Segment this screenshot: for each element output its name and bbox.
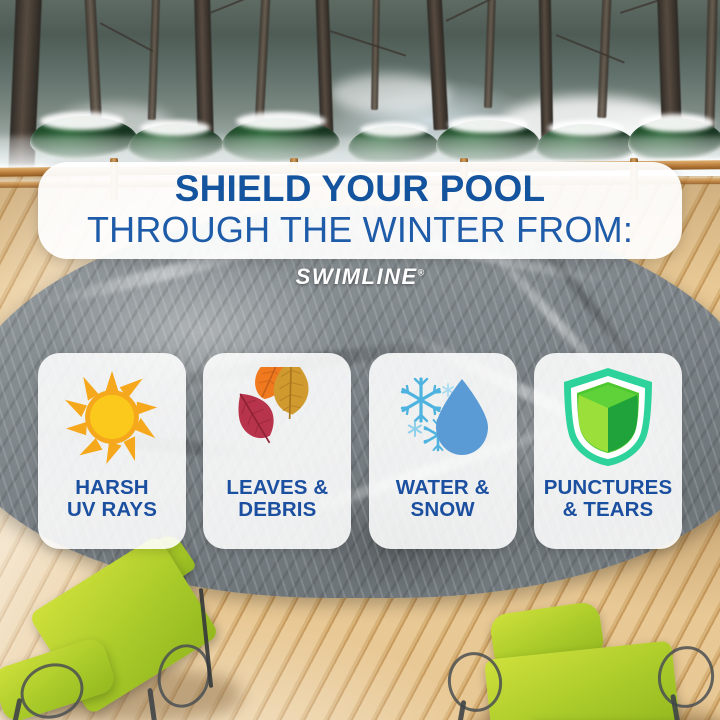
headline-line-1: SHIELD YOUR POOL xyxy=(175,170,546,208)
headline-line-2: THROUGH THE WINTER FROM: xyxy=(87,210,633,250)
swimline-logo: SWIMLINE® xyxy=(0,264,720,290)
marketing-image: SHIELD YOUR POOL THROUGH THE WINTER FROM… xyxy=(0,0,720,720)
feature-card-punctures-tears[interactable]: PUNCTURES & TEARS xyxy=(534,353,682,549)
feature-card-harsh-uv-rays[interactable]: HARSH UV RAYS xyxy=(38,353,186,549)
autumn-leaves-icon xyxy=(203,353,351,477)
feature-label: WATER & SNOW xyxy=(396,477,490,521)
snowflake-waterdrop-icon xyxy=(369,353,517,477)
feature-cards: HARSH UV RAYS xyxy=(38,353,682,549)
sun-icon xyxy=(38,353,186,477)
feature-label: HARSH UV RAYS xyxy=(67,477,157,521)
brand-name: SWIMLINE xyxy=(296,264,418,289)
feature-card-water-snow[interactable]: WATER & SNOW xyxy=(369,353,517,549)
feature-label: LEAVES & DEBRIS xyxy=(226,477,328,521)
feature-label: PUNCTURES & TEARS xyxy=(544,477,672,521)
registered-trademark-symbol: ® xyxy=(418,268,425,278)
headline-panel: SHIELD YOUR POOL THROUGH THE WINTER FROM… xyxy=(38,162,682,259)
lounge-chair-left xyxy=(0,548,270,720)
green-shield-icon xyxy=(534,353,682,477)
feature-card-leaves-debris[interactable]: LEAVES & DEBRIS xyxy=(203,353,351,549)
lounge-chair-right xyxy=(452,608,720,720)
